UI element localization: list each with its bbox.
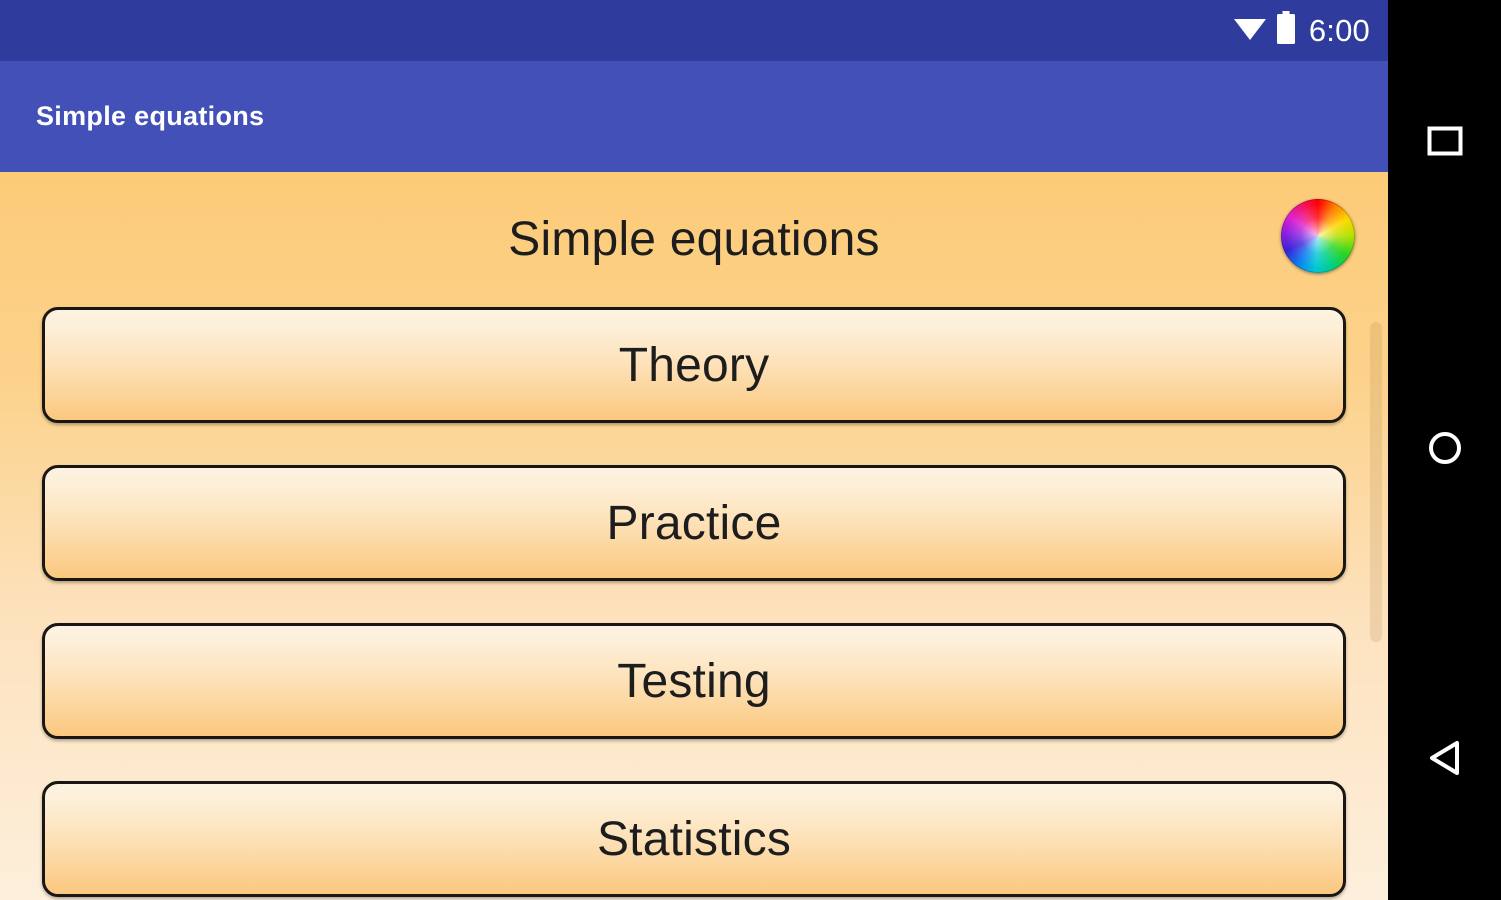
app-bar: Simple equations — [0, 61, 1388, 172]
triangle-left-icon — [1427, 739, 1463, 782]
status-bar-icons: 6:00 — [1233, 11, 1370, 50]
app-bar-title: Simple equations — [0, 101, 264, 132]
content-header: Simple equations — [0, 172, 1388, 307]
menu-button-practice[interactable]: Practice — [42, 465, 1346, 581]
android-screen: 6:00 Simple equations Simple equations T… — [0, 0, 1501, 900]
menu-button-label: Theory — [619, 338, 770, 393]
battery-icon — [1276, 11, 1296, 50]
square-icon — [1427, 126, 1463, 161]
status-bar-clock: 6:00 — [1309, 15, 1370, 46]
circle-icon — [1427, 430, 1463, 471]
main-content: Simple equations Theory Practice Testing… — [0, 172, 1388, 900]
menu-button-label: Testing — [617, 654, 771, 709]
menu-button-label: Practice — [607, 496, 782, 551]
page-title: Simple equations — [508, 212, 879, 267]
android-navigation-bar — [1388, 0, 1501, 900]
status-bar: 6:00 — [0, 0, 1388, 61]
home-button[interactable] — [1388, 410, 1501, 490]
menu-button-testing[interactable]: Testing — [42, 623, 1346, 739]
device-viewport: 6:00 Simple equations Simple equations T… — [0, 0, 1388, 900]
menu-button-theory[interactable]: Theory — [42, 307, 1346, 423]
recent-apps-button[interactable] — [1388, 103, 1501, 183]
menu-button-label: Statistics — [597, 812, 791, 867]
wifi-icon — [1233, 15, 1267, 46]
menu-list: Theory Practice Testing Statistics — [0, 307, 1388, 897]
color-wheel-icon[interactable] — [1281, 199, 1355, 273]
vertical-scrollbar[interactable] — [1370, 322, 1382, 642]
back-button[interactable] — [1388, 720, 1501, 800]
menu-button-statistics[interactable]: Statistics — [42, 781, 1346, 897]
